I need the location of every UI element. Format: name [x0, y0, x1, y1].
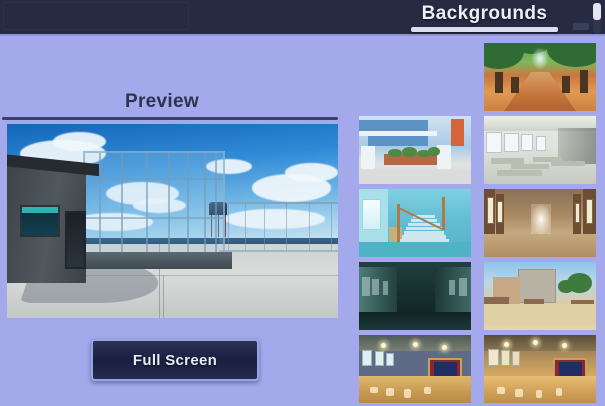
- top-bar: Backgrounds: [0, 0, 605, 36]
- thumbnail-wooden-corridor[interactable]: [484, 189, 596, 257]
- thumbnail-image: [484, 335, 596, 403]
- rooftop-fence: [219, 202, 338, 252]
- topbar-left-frame: [3, 2, 189, 30]
- thumbnail-image: [484, 262, 596, 330]
- topbar-chip: [573, 23, 589, 30]
- preview-title: Preview: [125, 91, 199, 113]
- preview-divider: [2, 117, 338, 120]
- thumbnail-blue-stairwell[interactable]: [359, 189, 471, 257]
- preview-pane: Preview: [0, 38, 345, 406]
- thumbnail-image: [484, 189, 596, 257]
- thumbnail-image: [484, 116, 596, 184]
- cloud: [285, 163, 338, 182]
- thumbnail-school-exterior[interactable]: [359, 116, 471, 184]
- greenhouse-base: [77, 252, 233, 269]
- glass-greenhouse: [83, 151, 225, 258]
- thumbnail-bright-classroom[interactable]: [484, 116, 596, 184]
- thumbnail-image: [359, 189, 471, 257]
- background-selector-screen: Backgrounds Preview: [0, 0, 605, 406]
- preview-image[interactable]: [7, 124, 338, 318]
- thumbnail-dark-corridor[interactable]: [359, 262, 471, 330]
- water-tower-leg: [225, 215, 226, 236]
- scrollbar-thumb[interactable]: [593, 3, 601, 20]
- thumbnail-gymnasium-warm[interactable]: [484, 335, 596, 403]
- hut-door: [65, 211, 87, 269]
- thumbnail-image: [359, 262, 471, 330]
- floor-seam: [163, 275, 164, 318]
- tab-backgrounds[interactable]: Backgrounds: [411, 1, 558, 33]
- thumbnail-grid: [357, 40, 599, 406]
- cloud: [53, 132, 106, 151]
- thumbnail-image: [484, 43, 596, 111]
- thumbnail-school-courtyard[interactable]: [484, 262, 596, 330]
- tab-active-underline: [411, 27, 558, 32]
- fullscreen-button[interactable]: Full Screen: [91, 339, 259, 381]
- tab-backgrounds-label: Backgrounds: [422, 1, 548, 26]
- thumbnail-image: [359, 116, 471, 184]
- thumbnail-gymnasium-cool[interactable]: [359, 335, 471, 403]
- thumbnail-image: [359, 335, 471, 403]
- vertical-scrollbar[interactable]: [593, 3, 601, 33]
- thumbnail-tree-lined-path[interactable]: [484, 43, 596, 111]
- hut-window-glow: [22, 207, 58, 213]
